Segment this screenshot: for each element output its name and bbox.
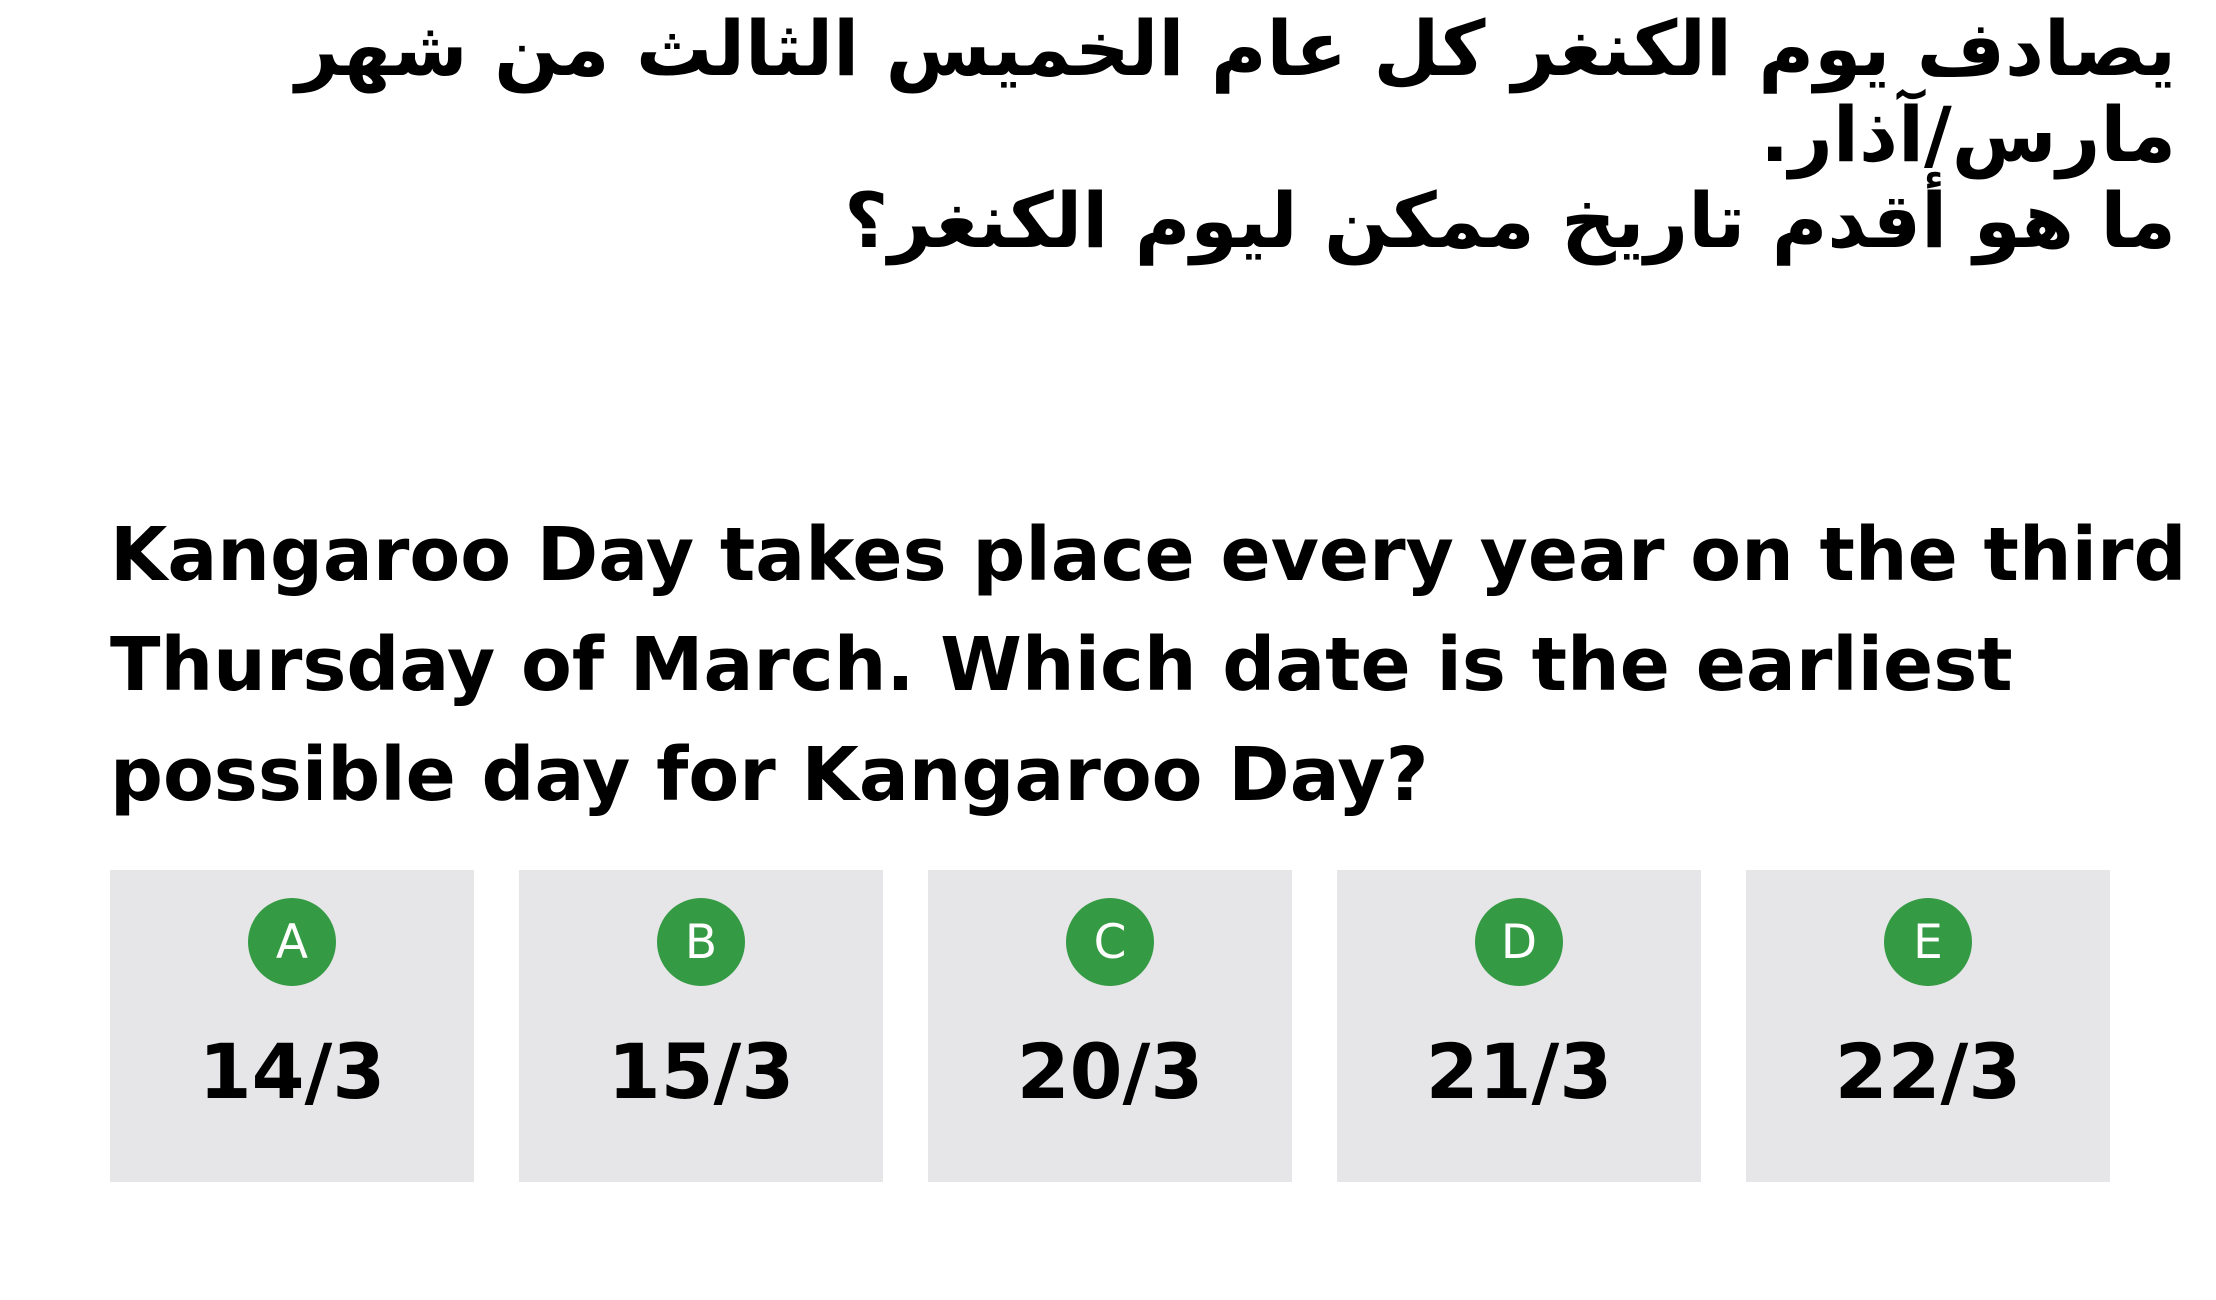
arabic-question-line-3: ما هو أقدم تاريخ ممكن ليوم الكنغر؟ <box>120 178 2176 264</box>
answer-option-c[interactable]: C 20/3 <box>928 870 1292 1182</box>
arabic-question-line-2: مارس/آذار. <box>120 92 2176 178</box>
option-value-a: 14/3 <box>199 1034 385 1110</box>
answer-option-a[interactable]: A 14/3 <box>110 870 474 1182</box>
option-value-d: 21/3 <box>1426 1034 1612 1110</box>
option-value-e: 22/3 <box>1835 1034 2021 1110</box>
arabic-question-line-1: يصادف يوم الكنغر كل عام الخميس الثالث من… <box>120 6 2176 92</box>
question-page: يصادف يوم الكنغر كل عام الخميس الثالث من… <box>0 0 2216 1300</box>
answer-options-row: A 14/3 B 15/3 C 20/3 D 21/3 E 22/3 <box>110 870 2110 1182</box>
english-question-block: Kangaroo Day takes place every year on t… <box>110 500 2110 830</box>
option-letter-badge-a: A <box>248 898 336 986</box>
option-value-c: 20/3 <box>1017 1034 1203 1110</box>
answer-option-d[interactable]: D 21/3 <box>1337 870 1701 1182</box>
english-question-line-3: possible day for Kangaroo Day? <box>110 720 2110 830</box>
option-letter-badge-e: E <box>1884 898 1972 986</box>
english-question-line-2: Thursday of March. Which date is the ear… <box>110 610 2110 720</box>
answer-option-b[interactable]: B 15/3 <box>519 870 883 1182</box>
answer-option-e[interactable]: E 22/3 <box>1746 870 2110 1182</box>
option-letter-badge-d: D <box>1475 898 1563 986</box>
english-question-line-1: Kangaroo Day takes place every year on t… <box>110 500 2110 610</box>
option-letter-badge-c: C <box>1066 898 1154 986</box>
option-value-b: 15/3 <box>608 1034 794 1110</box>
arabic-question-block: يصادف يوم الكنغر كل عام الخميس الثالث من… <box>120 6 2176 264</box>
option-letter-badge-b: B <box>657 898 745 986</box>
